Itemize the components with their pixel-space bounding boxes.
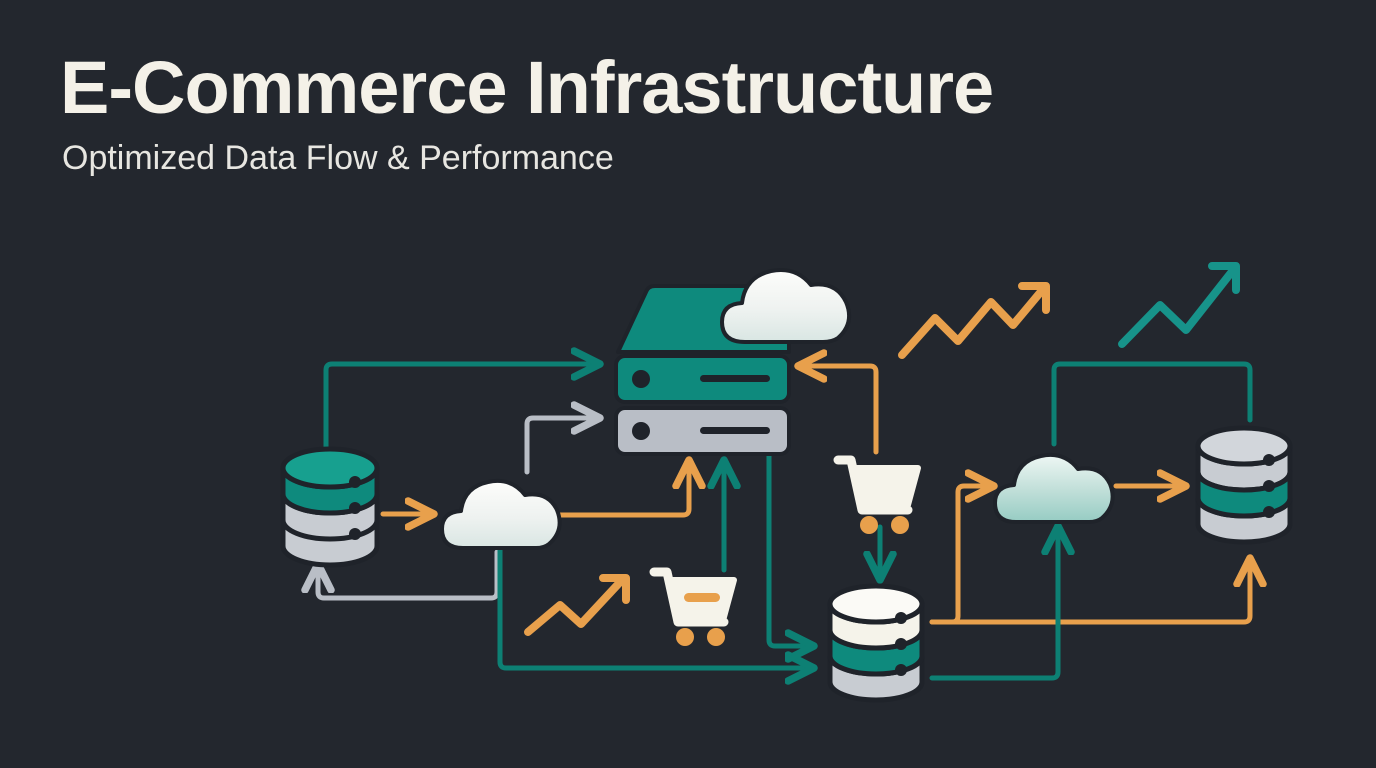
connector-ingest-to-servers [527, 418, 598, 472]
db-status-dot [895, 612, 907, 624]
cart-wheel-icon [860, 516, 878, 534]
server-slot [700, 427, 770, 434]
connector-ingest-to-orders [500, 548, 812, 668]
trend-line-performance [1122, 266, 1236, 344]
db-status-dot [1263, 506, 1275, 518]
node-database-source[interactable] [283, 449, 377, 565]
connector-source-to-servers [326, 364, 598, 452]
connector-ingest-feed-to-servers [556, 462, 689, 515]
cart-wheel-icon [707, 628, 725, 646]
node-cloud-delivery[interactable] [995, 455, 1113, 522]
server-slot [700, 375, 770, 382]
infrastructure-diagram [0, 0, 1376, 768]
connector-orders-to-analytics [932, 560, 1250, 622]
trend-line-conversion [528, 578, 626, 632]
cart-wheel-icon [891, 516, 909, 534]
node-database-analytics[interactable] [1198, 428, 1290, 542]
node-shopping-cart-order[interactable] [654, 572, 734, 646]
db-status-dot [895, 638, 907, 650]
node-cloud-ingest[interactable] [442, 481, 560, 548]
cart-wheel-icon [676, 628, 694, 646]
db-status-dot [1263, 480, 1275, 492]
connector-checkout-to-servers [800, 366, 876, 452]
node-cloud-edge-cdn[interactable] [722, 270, 849, 342]
connector-servers-to-orders [769, 448, 812, 646]
server-led-icon [632, 370, 650, 388]
db-status-dot [895, 664, 907, 676]
cloud-shape [442, 481, 560, 548]
server-led-icon [632, 422, 650, 440]
connector-orders-feed-delivery [932, 528, 1058, 678]
db-status-dot [349, 502, 361, 514]
cart-item-bar [684, 593, 720, 602]
connector-orders-to-delivery [932, 486, 992, 622]
trend-line-revenue-growth [902, 286, 1046, 355]
diagram-canvas: E-Commerce Infrastructure Optimized Data… [0, 0, 1376, 768]
cloud-shape [722, 270, 849, 342]
cart-basket [856, 468, 918, 505]
db-status-dot [349, 528, 361, 540]
db-status-dot [349, 476, 361, 488]
node-shopping-cart-checkout[interactable] [838, 460, 918, 534]
db-status-dot [1263, 454, 1275, 466]
cloud-shape [995, 455, 1113, 522]
node-database-orders[interactable] [830, 586, 922, 700]
